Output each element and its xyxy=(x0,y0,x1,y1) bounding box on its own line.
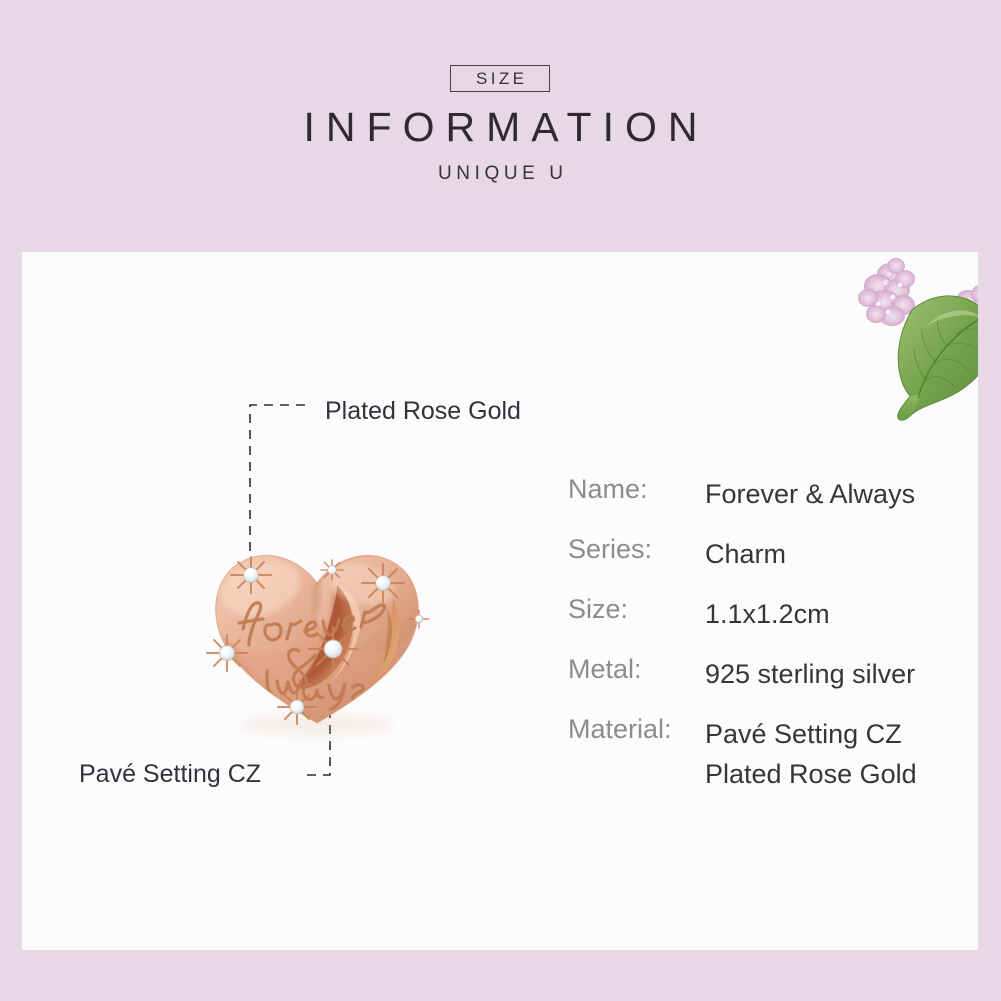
page-subtitle: UNIQUE U xyxy=(0,163,1001,185)
spec-row-series: Series: Charm xyxy=(568,534,968,594)
spec-list: Name: Forever & Always Series: Charm Siz… xyxy=(568,474,968,794)
spec-value-series: Charm xyxy=(705,534,786,574)
spec-row-metal: Metal: 925 sterling silver xyxy=(568,654,968,714)
page-header: SIZE INFORMATION UNIQUE U xyxy=(0,0,1001,252)
product-image-heart-charm xyxy=(187,527,447,742)
spec-row-size: Size: 1.1x1.2cm xyxy=(568,594,968,654)
size-badge-label: SIZE xyxy=(473,69,528,89)
spec-row-name: Name: Forever & Always xyxy=(568,474,968,534)
spec-label-metal: Metal: xyxy=(568,654,642,685)
page-title: INFORMATION xyxy=(0,104,1001,151)
spec-value-size: 1.1x1.2cm xyxy=(705,594,830,634)
callout-label-pave-setting-cz: Pavé Setting CZ xyxy=(79,760,261,789)
spec-label-size: Size: xyxy=(568,594,628,625)
spec-value-metal: 925 sterling silver xyxy=(705,654,915,694)
spec-value-material: Pavé Setting CZ Plated Rose Gold xyxy=(705,714,917,794)
spec-value-material-line1: Pavé Setting CZ xyxy=(705,719,902,749)
spec-value-material-line2: Plated Rose Gold xyxy=(705,754,917,794)
spec-label-name: Name: xyxy=(568,474,648,505)
spec-value-name: Forever & Always xyxy=(705,474,915,514)
lilac-sprig-decoration xyxy=(848,252,978,427)
spec-label-material: Material: xyxy=(568,714,672,745)
cz-stone xyxy=(362,564,404,602)
cz-stone xyxy=(309,627,357,671)
spec-row-material: Material: Pavé Setting CZ Plated Rose Go… xyxy=(568,714,968,794)
size-badge: SIZE xyxy=(450,65,550,92)
spec-label-series: Series: xyxy=(568,534,652,565)
callout-label-plated-rose-gold: Plated Rose Gold xyxy=(325,397,521,426)
info-card: Plated Rose Gold Pavé Setting CZ xyxy=(22,252,978,950)
cz-stone xyxy=(321,560,343,580)
